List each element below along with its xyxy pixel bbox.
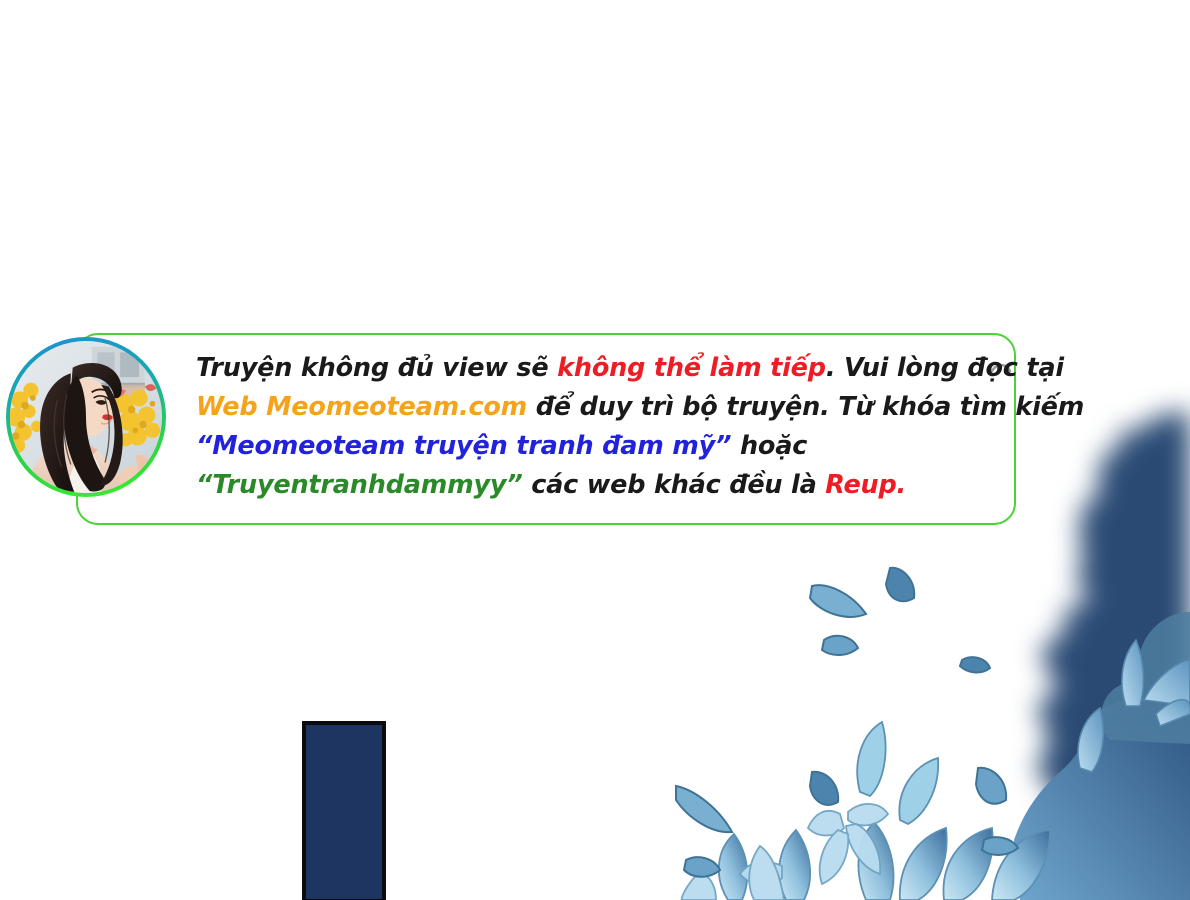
- navy-panel: [302, 721, 386, 900]
- notice-line-1: Truyện không đủ view sẽ không thể làm ti…: [196, 349, 996, 388]
- avatar-photo-icon: [10, 341, 162, 493]
- notice-seg: các web khác đều là: [523, 470, 826, 500]
- notice-seg: Truyện không đủ view sẽ: [196, 353, 557, 383]
- avatar[interactable]: [6, 337, 166, 497]
- notice-line-2: Web Meomeoteam.com để duy trì bộ truyện.…: [196, 388, 996, 427]
- notice-seg: hoặc: [731, 431, 807, 461]
- avatar-inner: [10, 341, 162, 493]
- notice-seg-highlight: không thể làm tiếp: [557, 353, 826, 383]
- notice-seg-keyword-green: “Truyentranhdammyy”: [196, 470, 523, 500]
- notice-seg: để duy trì bộ truyện. Từ khóa tìm kiếm: [527, 392, 1084, 422]
- notice-text-block: Truyện không đủ view sẽ không thể làm ti…: [196, 349, 996, 505]
- notice-seg-website[interactable]: Web Meomeoteam.com: [196, 392, 527, 422]
- notice-seg: . Vui lòng đọc tại: [826, 353, 1064, 383]
- notice-line-3: “Meomeoteam truyện tranh đam mỹ” hoặc: [196, 427, 996, 466]
- notice-line-4: “Truyentranhdammyy” các web khác đều là …: [196, 466, 996, 505]
- watermark-notice-banner: Truyện không đủ view sẽ không thể làm ti…: [76, 333, 1016, 525]
- notice-seg-keyword-blue: “Meomeoteam truyện tranh đam mỹ”: [196, 431, 731, 461]
- comic-page: Truyện không đủ view sẽ không thể làm ti…: [0, 0, 1190, 900]
- notice-seg-reup: Reup.: [825, 470, 906, 500]
